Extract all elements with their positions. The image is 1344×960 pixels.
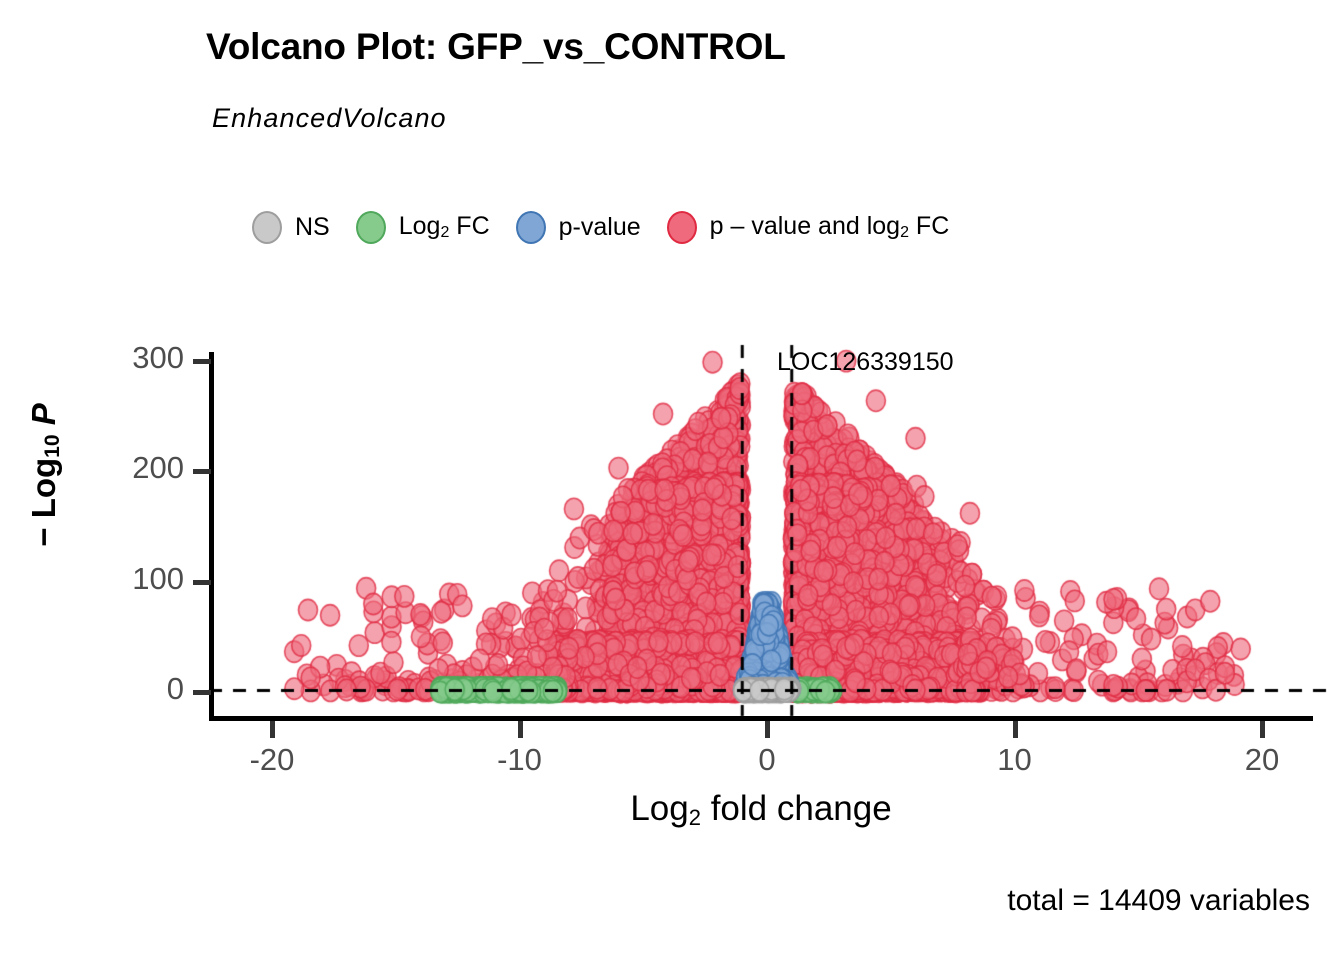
x-tick--10 xyxy=(518,721,523,738)
y-axis-line xyxy=(209,352,214,720)
y-tick-label-100: 100 xyxy=(64,561,184,597)
x-tick-10 xyxy=(1013,721,1018,738)
y-tick-label-200: 200 xyxy=(64,450,184,486)
x-tick-label-20: 20 xyxy=(1202,742,1322,778)
y-tick-0 xyxy=(193,690,211,695)
y-tick-200 xyxy=(193,469,211,474)
x-tick-label--10: -10 xyxy=(460,742,580,778)
x-axis-title: Log2 fold change xyxy=(209,789,1313,831)
volcano-plot-figure: Volcano Plot: GFP_vs_CONTROL EnhancedVol… xyxy=(0,0,1344,960)
y-tick-label-0: 0 xyxy=(64,671,184,707)
plot-panel: 0100200300 -20-1001020 − Log10 P Log2 fo… xyxy=(0,0,1344,960)
x-tick-label--20: -20 xyxy=(212,742,332,778)
total-variables-caption: total = 14409 variables xyxy=(1007,884,1310,918)
y-tick-label-300: 300 xyxy=(64,340,184,376)
y-tick-300 xyxy=(193,359,211,364)
x-tick-20 xyxy=(1260,721,1265,738)
gene-annotation-label: LOC126339150 xyxy=(777,348,954,377)
x-tick-label-0: 0 xyxy=(707,742,827,778)
y-axis-title: − Log10 P xyxy=(25,325,65,625)
x-tick-label-10: 10 xyxy=(955,742,1075,778)
x-tick-0 xyxy=(765,721,770,738)
y-tick-100 xyxy=(193,580,211,585)
x-axis-line xyxy=(209,716,1313,721)
x-tick--20 xyxy=(270,721,275,738)
